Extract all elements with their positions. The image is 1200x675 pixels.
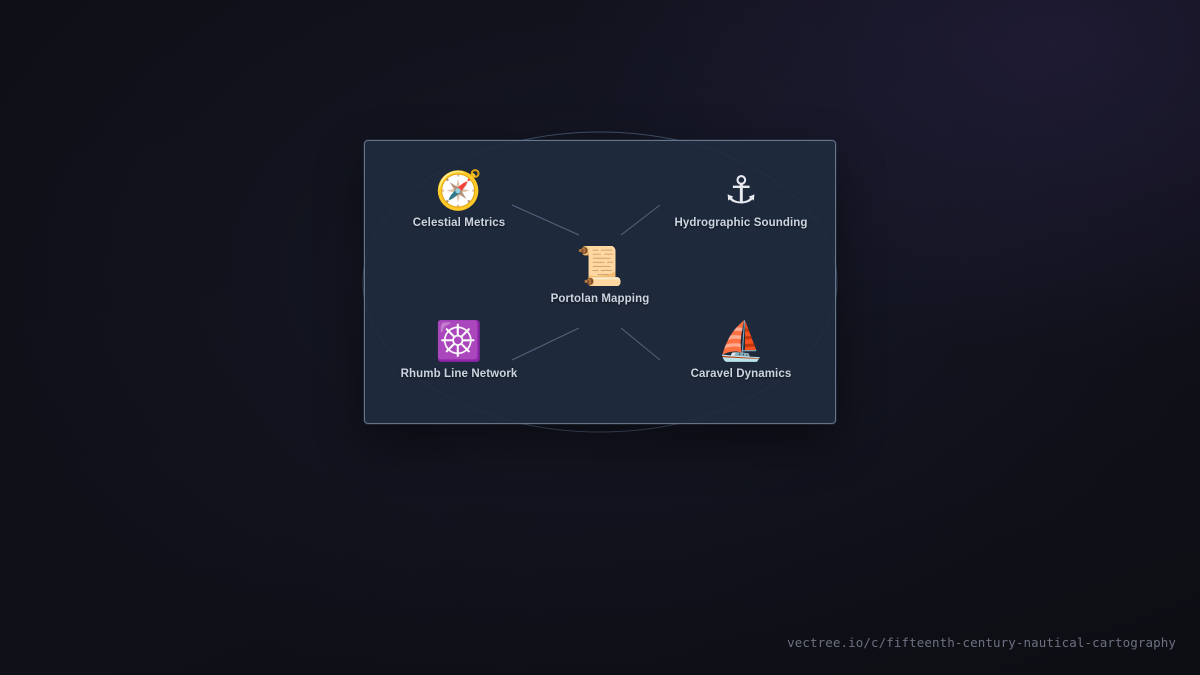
node-portolan-mapping[interactable]: 📜 Portolan Mapping: [500, 242, 700, 305]
ships-wheel-icon: ☸️: [435, 317, 482, 365]
node-celestial-metrics[interactable]: 🧭 Celestial Metrics: [359, 166, 559, 229]
node-label: Rhumb Line Network: [401, 368, 518, 380]
node-hydrographic-sounding[interactable]: ⚓ Hydrographic Sounding: [641, 166, 841, 229]
compass-icon: 🧭: [435, 166, 482, 214]
node-rhumb-line-network[interactable]: ☸️ Rhumb Line Network: [359, 317, 559, 380]
page-url: vectree.io/c/fifteenth-century-nautical-…: [787, 635, 1176, 650]
sailboat-icon: ⛵: [717, 317, 764, 365]
scroll-icon: 📜: [576, 242, 623, 290]
node-label: Caravel Dynamics: [691, 368, 792, 380]
anchor-icon: ⚓: [724, 166, 758, 214]
footer: Vectree Cartographic evolution and hydro…: [0, 480, 1200, 675]
node-caravel-dynamics[interactable]: ⛵ Caravel Dynamics: [641, 317, 841, 380]
diagram-stage: 🧭 Celestial Metrics ⚓ Hydrographic Sound…: [0, 0, 1200, 480]
node-label: Celestial Metrics: [413, 217, 505, 229]
node-label: Hydrographic Sounding: [674, 217, 807, 229]
node-label: Portolan Mapping: [551, 293, 650, 305]
